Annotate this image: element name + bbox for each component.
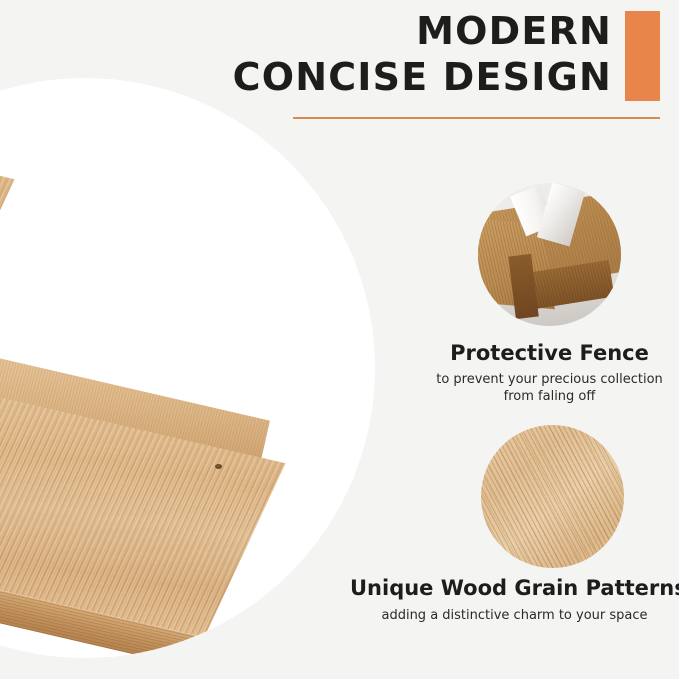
feature-grain-subtitle-line-1: adding a distinctive charm to your space	[350, 607, 679, 624]
header-divider-line	[293, 117, 660, 119]
product-marketing-image: MODERN CONCISE DESIGN Protective Fence t…	[0, 0, 679, 679]
feature-fence-subtitle-line-1: to prevent your precious collection	[420, 371, 679, 388]
feature-fence-subtitle: to prevent your precious collection from…	[420, 371, 679, 405]
orange-accent-bar	[625, 11, 660, 101]
shelf-upper	[0, 78, 100, 368]
feature-grain-title: Unique Wood Grain Patterns	[350, 575, 679, 601]
hero-product-photo	[0, 78, 375, 658]
feature-grain-subtitle: adding a distinctive charm to your space	[350, 607, 679, 624]
feature-fence-subtitle-line-2: from faling off	[420, 388, 679, 405]
headline-line-2: CONCISE DESIGN	[233, 54, 612, 100]
fence-photo-content	[478, 183, 621, 326]
shelf-lower-screw-hole	[215, 464, 222, 469]
grain-photo-content	[481, 425, 624, 568]
headline-line-1: MODERN	[233, 8, 612, 54]
shelf-upper-board	[0, 78, 14, 361]
feature-fence-image	[478, 183, 621, 326]
headline-block: MODERN CONCISE DESIGN	[233, 8, 612, 100]
feature-grain-image	[481, 425, 624, 568]
hero-photo-clip	[0, 78, 375, 658]
feature-fence-title: Protective Fence	[420, 340, 679, 366]
shelf-lower	[0, 333, 360, 658]
